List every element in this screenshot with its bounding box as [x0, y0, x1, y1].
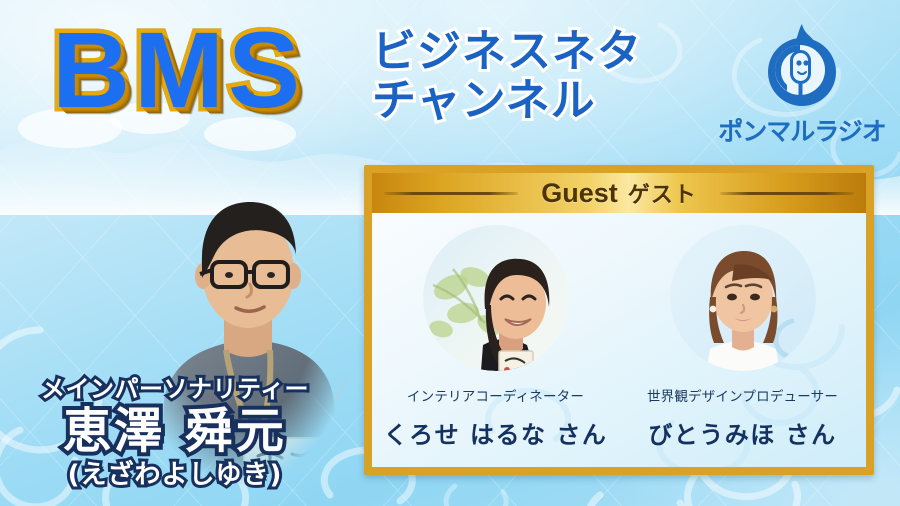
guest-card-1: インテリアコーディネーター くろせ はるな さん: [372, 213, 619, 475]
channel-title-line2: チャンネル: [372, 76, 642, 125]
guest-photo-1: [423, 225, 569, 371]
guest-header-label-jp: ゲスト: [628, 177, 697, 209]
guest-role-1: インテリアコーディネーター: [407, 385, 584, 405]
station-logo-label: ポンマルラジオ: [716, 112, 888, 148]
guest-header-label-en: Guest: [541, 178, 618, 209]
channel-title-line1: ビジネスネタ: [372, 27, 642, 76]
guest-photo-2: [670, 225, 816, 371]
channel-title: ビジネスネタ チャンネル: [372, 27, 642, 126]
guest-header-text: Guest ゲスト: [541, 177, 697, 209]
guest-header-rule-left: [384, 192, 518, 195]
guest-list: インテリアコーディネーター くろせ はるな さん: [372, 213, 866, 475]
guest-name-1: くろせ はるな さん: [384, 415, 608, 450]
main-personality-caption: メインパーソナリティー 恵澤 舜元 (えざわよしゆき): [0, 376, 350, 489]
guest-name-2: びとうみほ さん: [648, 415, 836, 450]
guest-card-2: 世界観デザインプロデューサー びとうみほ さん: [619, 213, 866, 475]
guest-avatar-2: [670, 225, 816, 371]
main-personality-role: メインパーソナリティー: [0, 376, 350, 402]
guest-panel: Guest ゲスト: [364, 165, 874, 475]
bms-wordmark: BMS: [52, 16, 304, 124]
thumbnail-canvas: BMS ビジネスネタ チャンネル ポンマルラジオ: [0, 0, 900, 506]
main-personality-name: 恵澤 舜元: [0, 404, 350, 459]
guest-role-2: 世界観デザインプロデューサー: [647, 385, 838, 405]
guest-panel-header: Guest ゲスト: [372, 173, 866, 213]
guest-header-rule-right: [720, 192, 854, 195]
main-personality-reading: (えざわよしゆき): [0, 461, 350, 490]
station-logo: ポンマルラジオ: [716, 20, 888, 152]
flame-microphone-icon: [716, 20, 888, 116]
guest-avatar-1: [423, 225, 569, 371]
